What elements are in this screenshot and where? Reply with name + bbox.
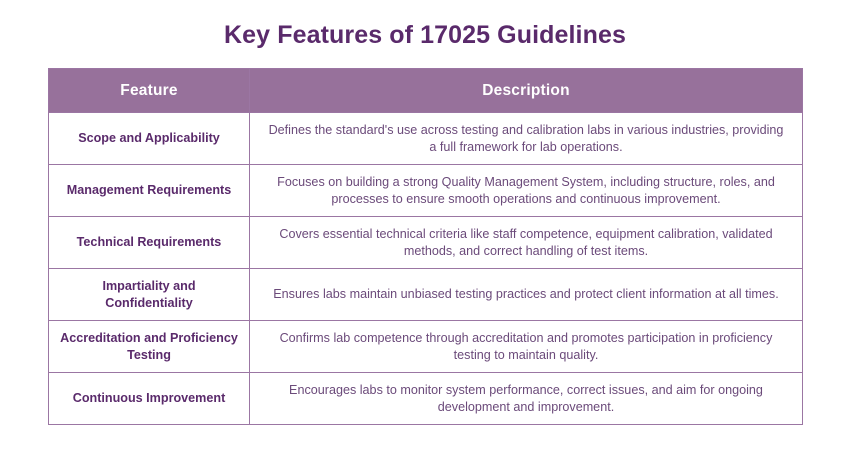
feature-cell: Management Requirements (49, 165, 250, 217)
column-header-feature: Feature (49, 69, 250, 113)
table-row: Accreditation and Proficiency Testing Co… (49, 321, 803, 373)
table-row: Technical Requirements Covers essential … (49, 217, 803, 269)
table-body: Scope and Applicability Defines the stan… (49, 113, 803, 425)
table-row: Continuous Improvement Encourages labs t… (49, 373, 803, 425)
feature-table-container: Feature Description Scope and Applicabil… (48, 68, 802, 425)
description-cell: Encourages labs to monitor system perfor… (250, 373, 803, 425)
table-row: Management Requirements Focuses on build… (49, 165, 803, 217)
description-cell: Ensures labs maintain unbiased testing p… (250, 269, 803, 321)
description-cell: Focuses on building a strong Quality Man… (250, 165, 803, 217)
page-title: Key Features of 17025 Guidelines (0, 0, 850, 51)
feature-cell: Impartiality and Confidentiality (49, 269, 250, 321)
feature-cell: Technical Requirements (49, 217, 250, 269)
table-row: Impartiality and Confidentiality Ensures… (49, 269, 803, 321)
description-cell: Defines the standard's use across testin… (250, 113, 803, 165)
table-header-row: Feature Description (49, 69, 803, 113)
page-root: Key Features of 17025 Guidelines Feature… (0, 0, 850, 450)
feature-cell: Scope and Applicability (49, 113, 250, 165)
feature-table: Feature Description Scope and Applicabil… (48, 68, 803, 425)
table-header: Feature Description (49, 69, 803, 113)
description-cell: Covers essential technical criteria like… (250, 217, 803, 269)
feature-cell: Continuous Improvement (49, 373, 250, 425)
table-row: Scope and Applicability Defines the stan… (49, 113, 803, 165)
column-header-description: Description (250, 69, 803, 113)
feature-cell: Accreditation and Proficiency Testing (49, 321, 250, 373)
description-cell: Confirms lab competence through accredit… (250, 321, 803, 373)
